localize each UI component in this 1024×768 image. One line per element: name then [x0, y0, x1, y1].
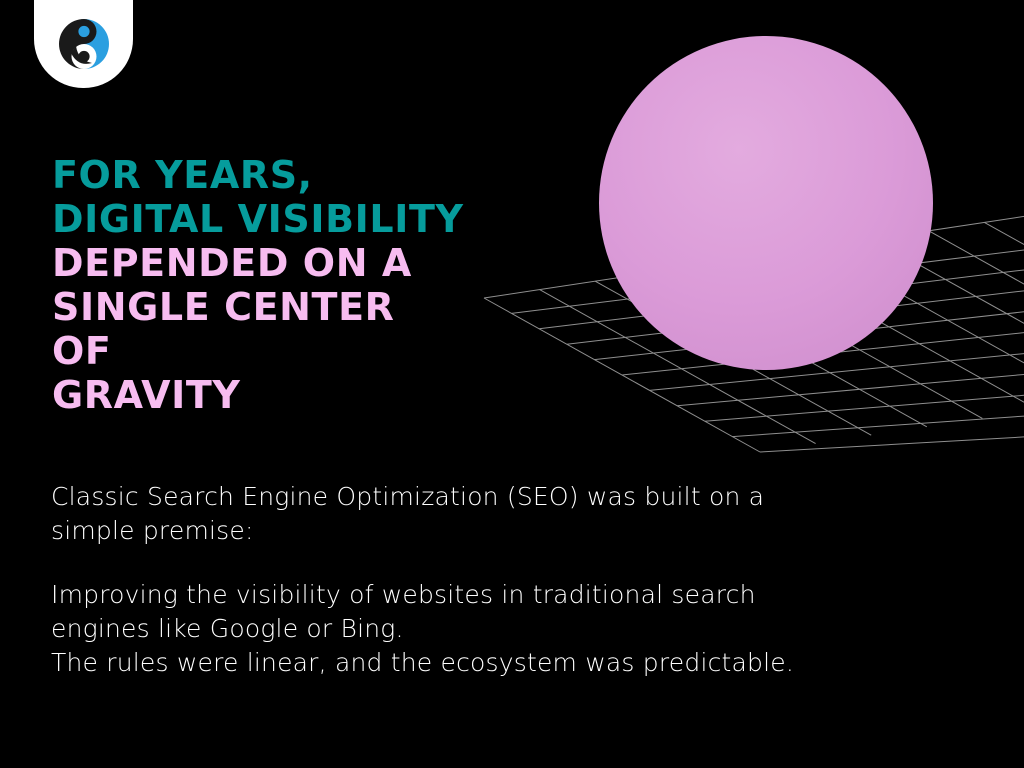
- pink-sphere: [599, 36, 933, 370]
- isometric-wireframe-grid: [484, 214, 1024, 452]
- headline-line-6: GRAVITY: [52, 373, 464, 417]
- body-p1-line-1: Classic Search Engine Optimization (SEO)…: [51, 480, 951, 514]
- body-p2-line-3: The rules were linear, and the ecosystem…: [51, 646, 951, 680]
- grid-lines-direction-b: [484, 222, 1024, 452]
- headline-line-1: FOR YEARS,: [52, 153, 464, 197]
- headline-line-5: OF: [52, 329, 464, 373]
- body-p1-line-2: simple premise:: [51, 514, 951, 548]
- body-paragraph-2: Improving the visibility of websites in …: [51, 578, 951, 680]
- grid-lines-direction-a: [484, 214, 1024, 452]
- paragraph-spacer: [51, 548, 951, 578]
- headline-line-3: DEPENDED ON A: [52, 241, 464, 285]
- headline: FOR YEARS, DIGITAL VISIBILITY DEPENDED O…: [52, 153, 464, 417]
- logo-blue-dot: [78, 26, 89, 37]
- body-p2-line-2: engines like Google or Bing.: [51, 612, 951, 646]
- body-paragraph-1: Classic Search Engine Optimization (SEO)…: [51, 480, 951, 548]
- slide-canvas: FOR YEARS, DIGITAL VISIBILITY DEPENDED O…: [0, 0, 1024, 768]
- body-p2-line-1: Improving the visibility of websites in …: [51, 578, 951, 612]
- brand-logo-badge[interactable]: [34, 0, 133, 88]
- brand-logo-icon: [56, 16, 112, 72]
- body-copy: Classic Search Engine Optimization (SEO)…: [51, 480, 951, 680]
- headline-line-4: SINGLE CENTER: [52, 285, 464, 329]
- headline-line-2: DIGITAL VISIBILITY: [52, 197, 464, 241]
